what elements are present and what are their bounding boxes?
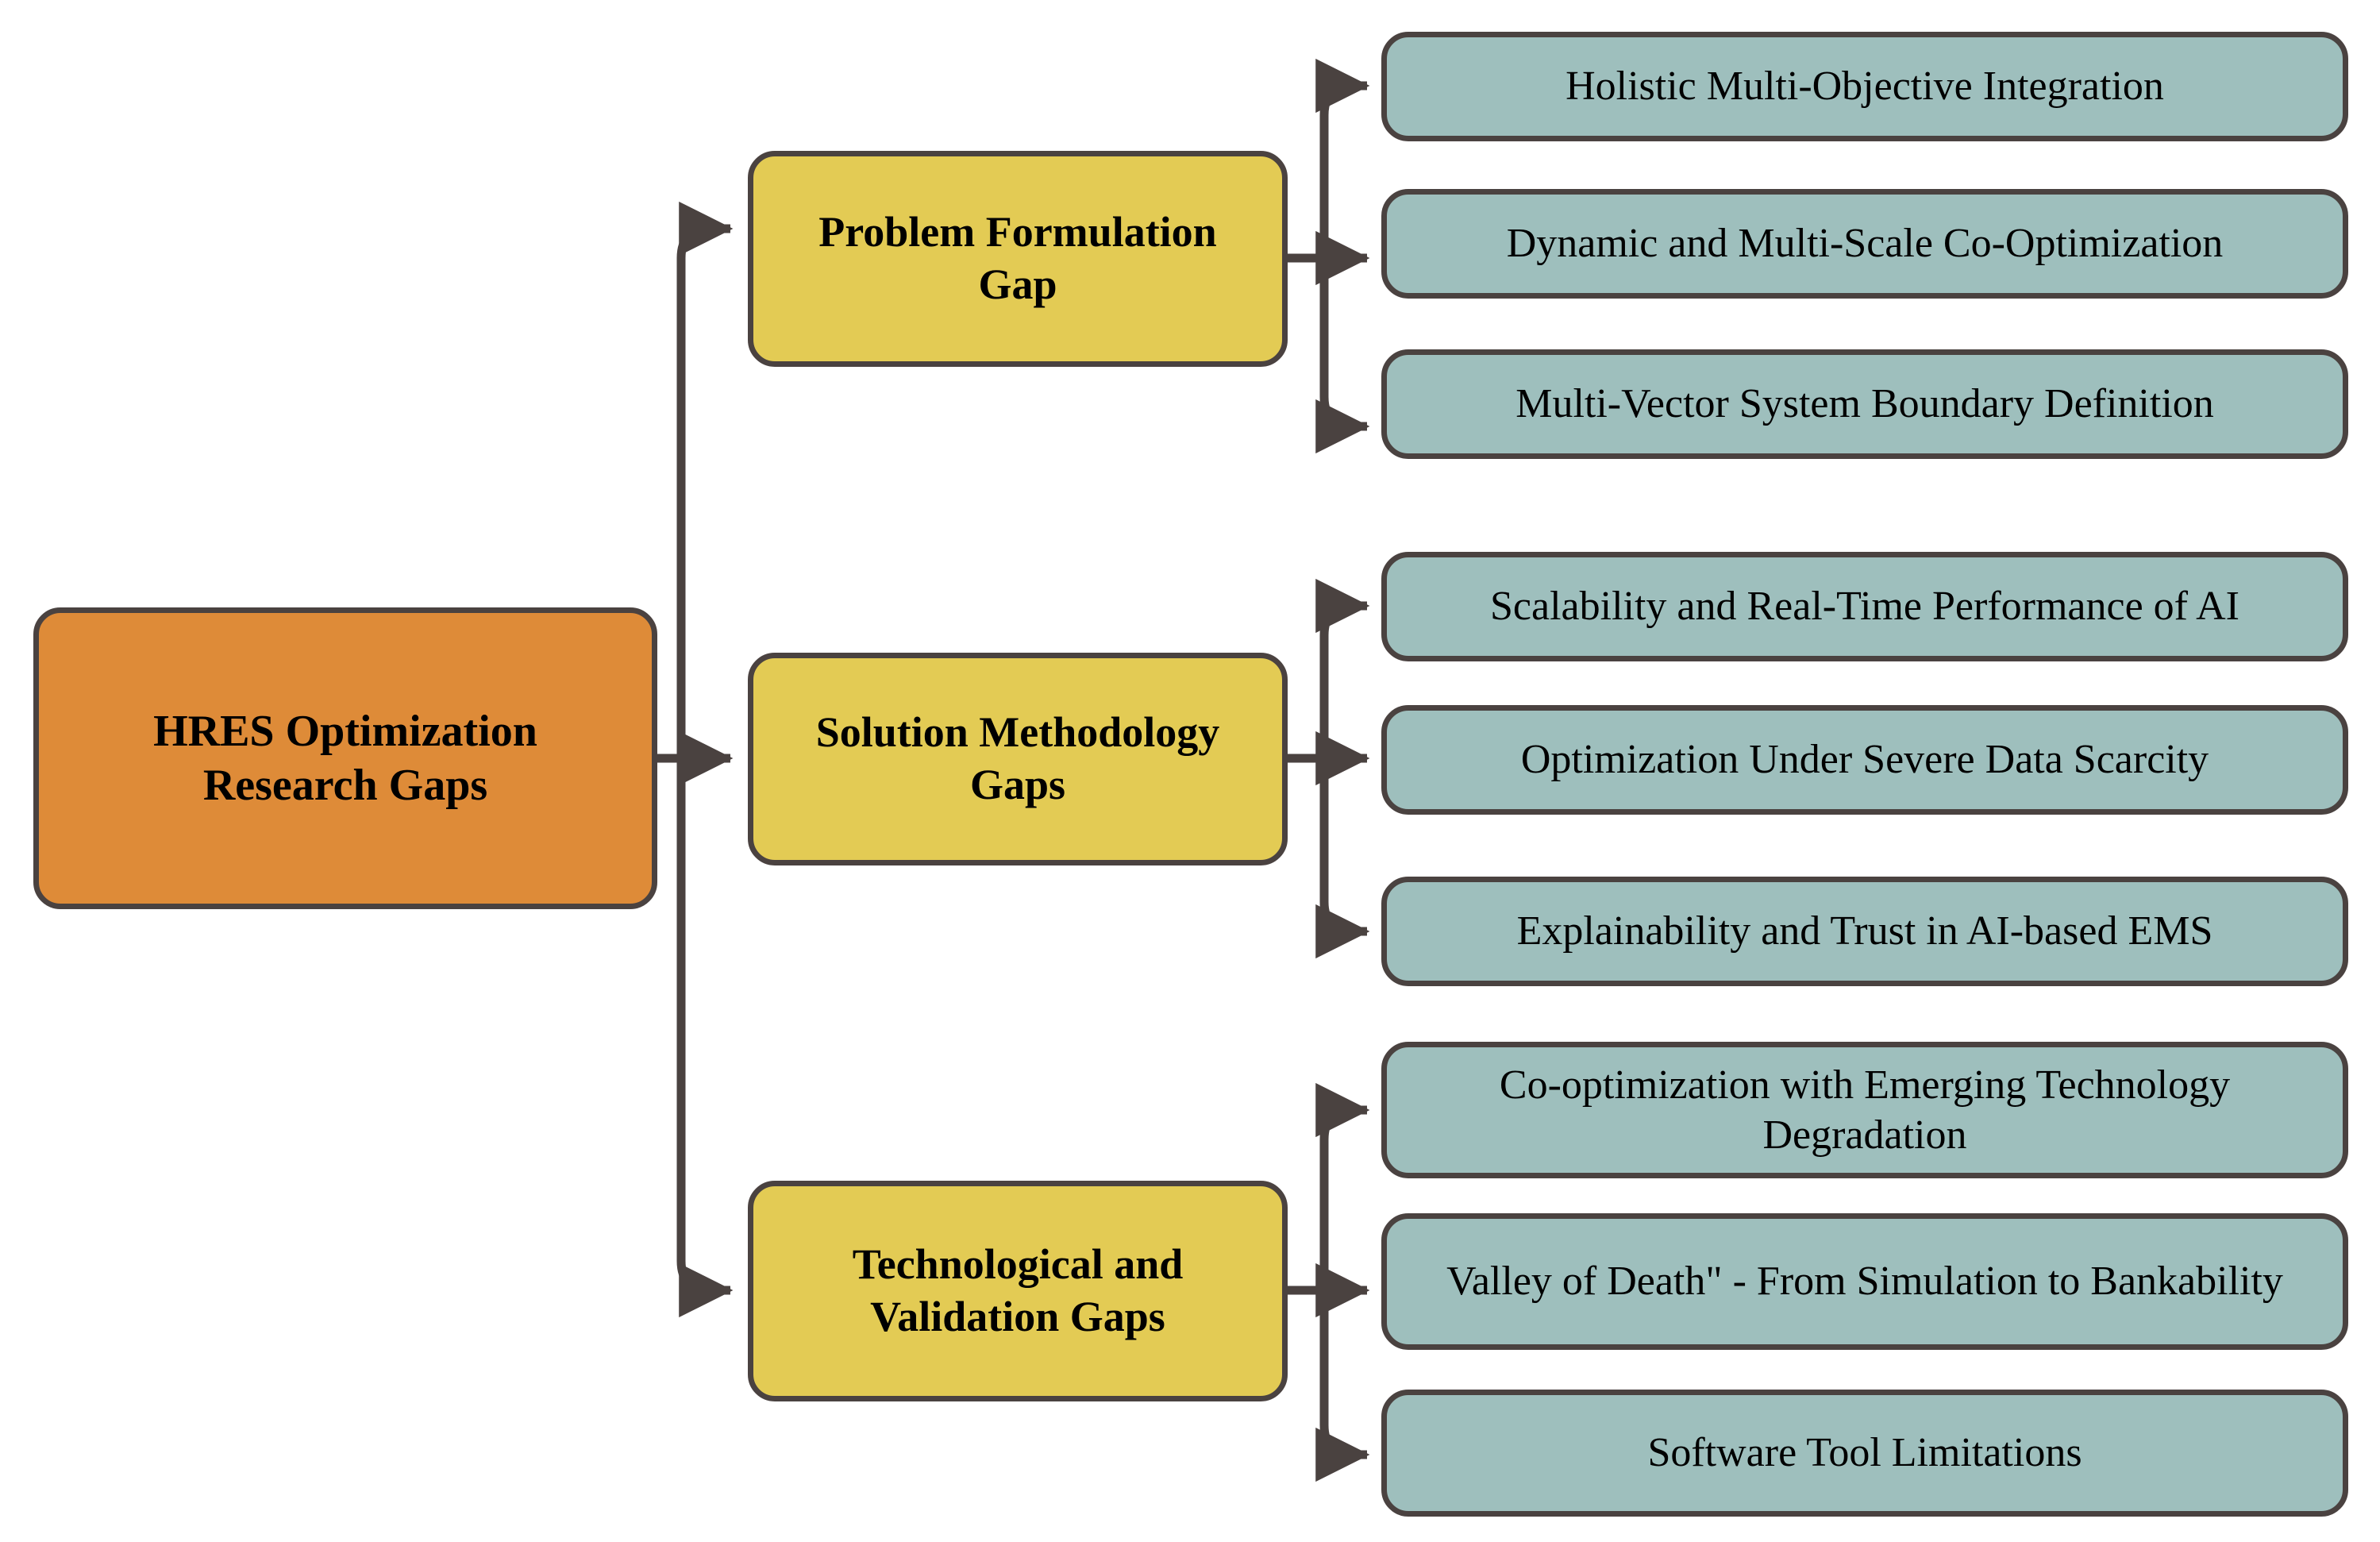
node-branch-1-label-line2: Gap bbox=[978, 260, 1057, 308]
node-branch-technological-validation-gaps[interactable]: Technological andValidation Gaps bbox=[748, 1181, 1288, 1401]
node-leaf-dynamic-multi-scale-co-optimization[interactable]: Dynamic and Multi-Scale Co-Optimization bbox=[1381, 189, 2348, 299]
connector-branch-2 bbox=[1288, 606, 1367, 931]
node-branch-2-label-line1: Solution Methodology bbox=[816, 708, 1220, 756]
node-leaf-valley-of-death-simulation-to-bankability[interactable]: Valley of Death" - From Simulation to Ba… bbox=[1381, 1213, 2348, 1350]
node-branch-1-label: Problem FormulationGap bbox=[774, 206, 1261, 311]
node-branch-2-label: Solution MethodologyGaps bbox=[774, 707, 1261, 811]
node-root-label: HRES OptimizationResearch Gaps bbox=[60, 704, 631, 813]
node-leaf-scalability-real-time-performance-of-ai[interactable]: Scalability and Real-Time Performance of… bbox=[1381, 552, 2348, 661]
node-branch-problem-formulation-gap[interactable]: Problem FormulationGap bbox=[748, 151, 1288, 367]
diagram-canvas: HRES OptimizationResearch Gaps Problem F… bbox=[0, 0, 2380, 1542]
node-branch-solution-methodology-gaps[interactable]: Solution MethodologyGaps bbox=[748, 653, 1288, 865]
node-branch-2-label-line2: Gaps bbox=[970, 761, 1065, 808]
node-leaf-holistic-multi-objective-integration[interactable]: Holistic Multi-Objective Integration bbox=[1381, 32, 2348, 141]
node-leaf-2-2-label: Optimization Under Severe Data Scarcity bbox=[1408, 734, 2322, 784]
node-root-label-line2: Research Gaps bbox=[203, 761, 487, 810]
node-branch-3-label-line1: Technological and bbox=[853, 1240, 1184, 1288]
node-leaf-1-3-label: Multi-Vector System Boundary Definition bbox=[1408, 379, 2322, 429]
node-root-label-line1: HRES Optimization bbox=[153, 707, 537, 756]
node-branch-3-label: Technological andValidation Gaps bbox=[774, 1239, 1261, 1343]
node-leaf-1-2-label: Dynamic and Multi-Scale Co-Optimization bbox=[1408, 218, 2322, 268]
node-leaf-1-1-label: Holistic Multi-Objective Integration bbox=[1408, 61, 2322, 111]
node-leaf-2-3-label: Explainability and Trust in AI-based EMS bbox=[1408, 906, 2322, 956]
node-leaf-explainability-trust-ai-based-ems[interactable]: Explainability and Trust in AI-based EMS bbox=[1381, 877, 2348, 986]
node-leaf-multi-vector-system-boundary-definition[interactable]: Multi-Vector System Boundary Definition bbox=[1381, 349, 2348, 459]
node-branch-1-label-line1: Problem Formulation bbox=[818, 208, 1216, 256]
node-branch-3-label-line2: Validation Gaps bbox=[870, 1293, 1165, 1340]
connector-branch-3 bbox=[1288, 1110, 1367, 1455]
node-leaf-co-optimization-emerging-technology-degradation[interactable]: Co-optimization with Emerging Technology… bbox=[1381, 1042, 2348, 1178]
node-leaf-3-3-label: Software Tool Limitations bbox=[1408, 1428, 2322, 1478]
connector-root-trunk bbox=[657, 229, 730, 1290]
node-root[interactable]: HRES OptimizationResearch Gaps bbox=[33, 607, 657, 909]
node-leaf-optimization-under-severe-data-scarcity[interactable]: Optimization Under Severe Data Scarcity bbox=[1381, 705, 2348, 815]
node-leaf-3-2-label: Valley of Death" - From Simulation to Ba… bbox=[1408, 1256, 2322, 1306]
node-leaf-software-tool-limitations[interactable]: Software Tool Limitations bbox=[1381, 1390, 2348, 1517]
connector-branch-1 bbox=[1288, 86, 1367, 426]
node-leaf-2-1-label: Scalability and Real-Time Performance of… bbox=[1408, 581, 2322, 631]
node-leaf-3-1-label: Co-optimization with Emerging Technology… bbox=[1408, 1060, 2322, 1161]
